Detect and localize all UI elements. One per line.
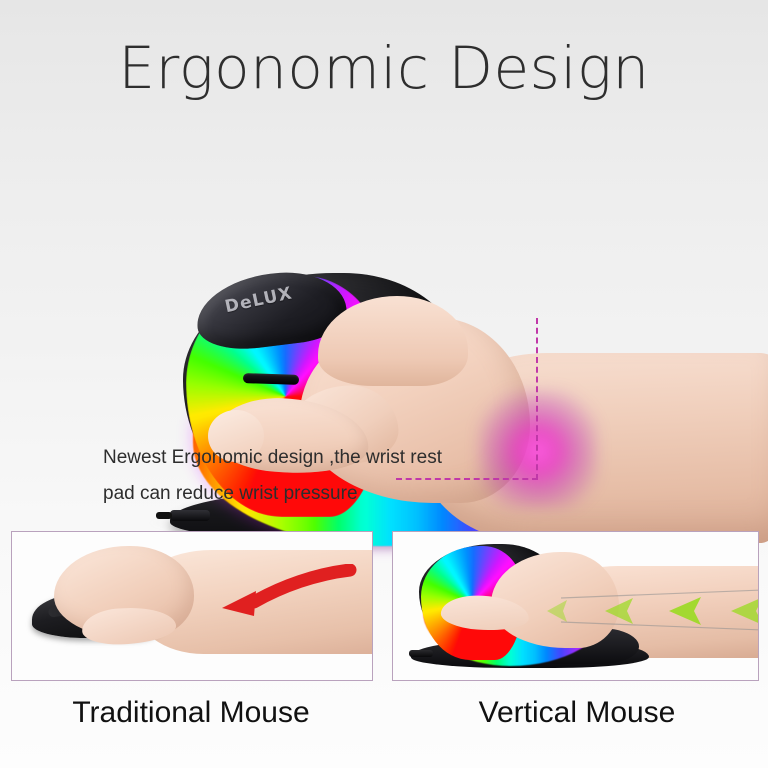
vertical-usb-cable: [409, 650, 433, 657]
knuckles: [318, 296, 468, 386]
panel-vertical-mouse: [392, 531, 759, 681]
page-title: Ergonomic Design: [0, 34, 768, 102]
panel-label-traditional: Traditional Mouse: [0, 696, 382, 730]
green-alignment-arrows-icon: [501, 578, 759, 644]
caption-line-1: Newest Ergonomic design ,the wrist rest: [103, 440, 523, 476]
hero-product-scene: DeLUX: [0, 118, 768, 438]
product-marketing-banner: Ergonomic Design DeLUX Newest Ergo: [0, 0, 768, 768]
hand-on-mouse: [0, 118, 768, 438]
callout-line-vertical: [536, 318, 538, 480]
panel-label-vertical: Vertical Mouse: [386, 696, 768, 730]
hero-caption: Newest Ergonomic design ,the wrist rest …: [103, 440, 523, 512]
caption-line-2: pad can reduce wrist pressure: [103, 476, 523, 512]
comparison-section: Traditional Mouse Verti: [0, 520, 768, 768]
red-strain-arrow-icon: [198, 564, 358, 636]
panel-traditional-mouse: [11, 531, 373, 681]
